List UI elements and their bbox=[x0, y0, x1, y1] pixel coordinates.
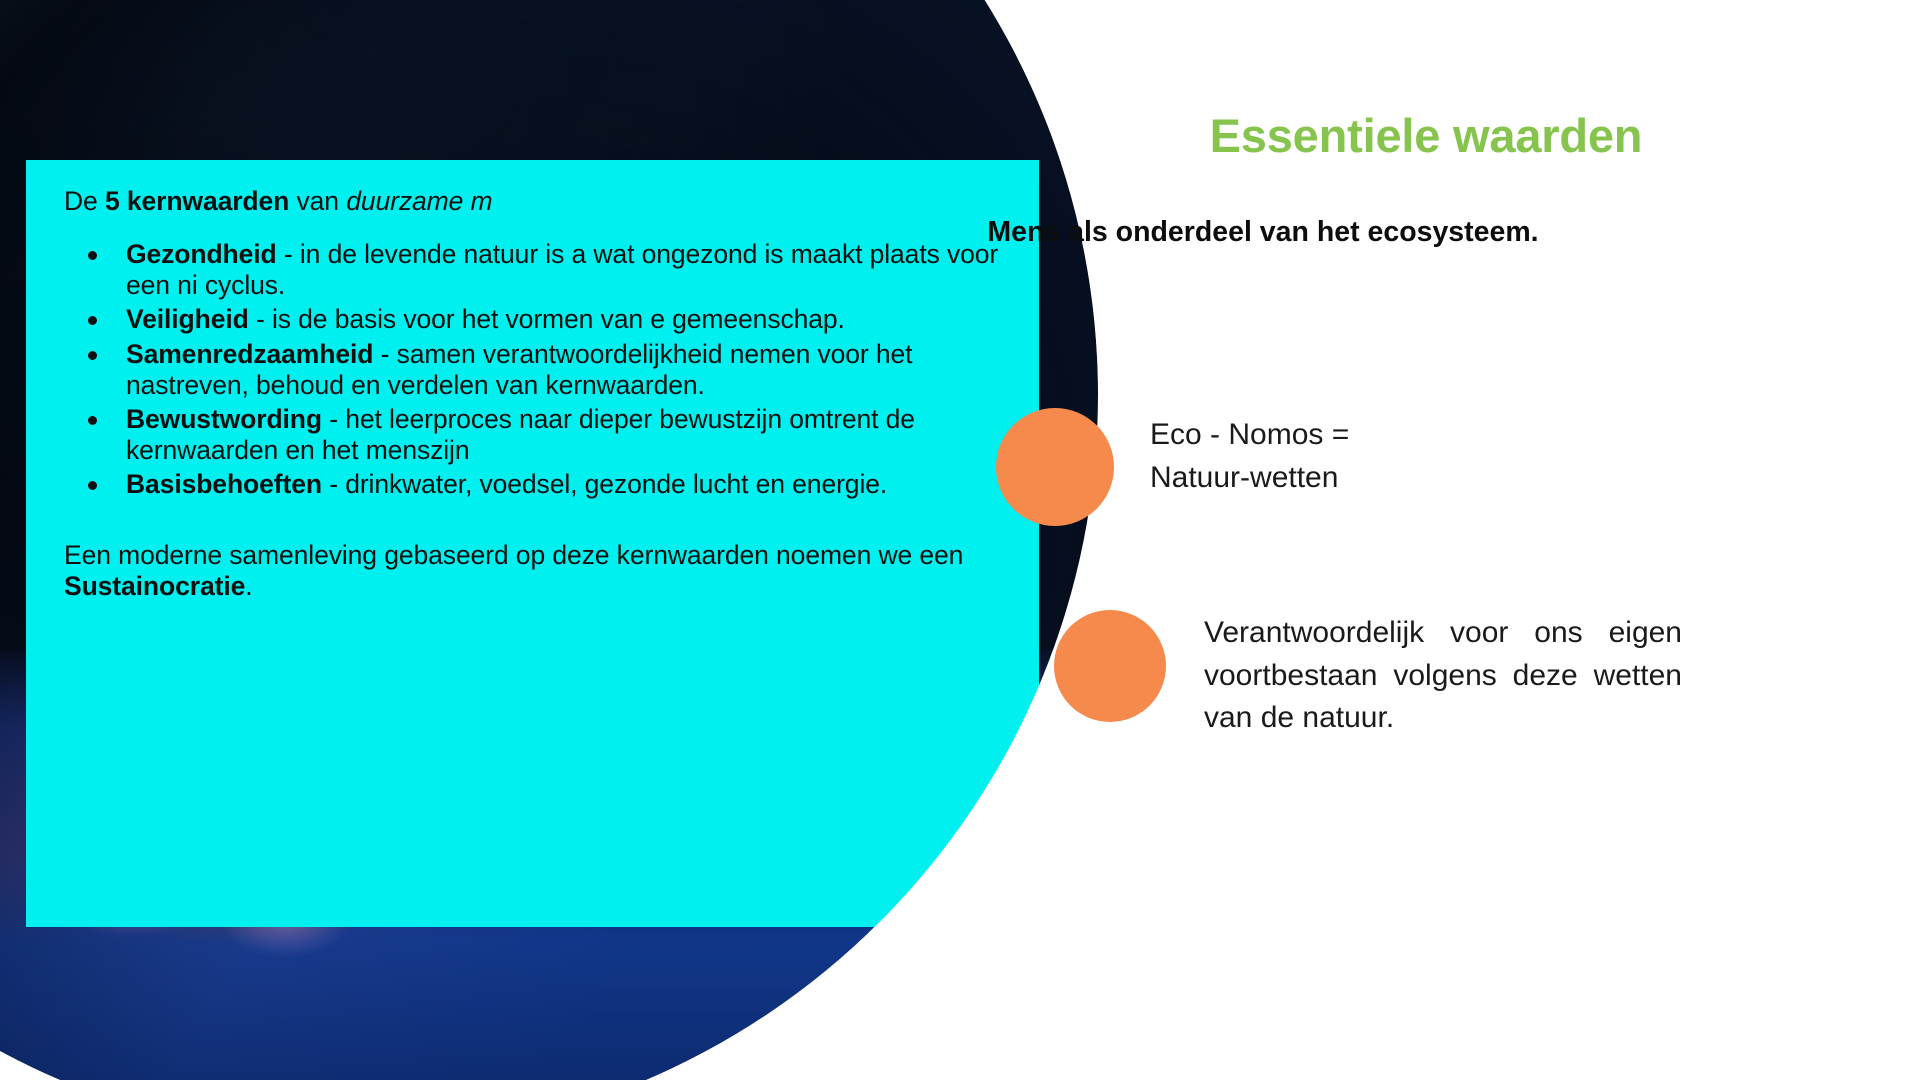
page-title: Essentiele waarden bbox=[1096, 108, 1756, 163]
bullet-dot-icon bbox=[88, 316, 97, 325]
card-intro-paragraph: De 5 kernwaarden van duurzame m bbox=[64, 186, 1005, 217]
card-intro-italic: duurzame m bbox=[346, 186, 492, 216]
bullet-text-line: Eco - Nomos = bbox=[1150, 414, 1349, 457]
orange-circle-icon bbox=[1054, 610, 1166, 722]
bullet-item-verantwoordelijk: Verantwoordelijk voor ons eigen voortbes… bbox=[1054, 610, 1704, 740]
slide-canvas: De 5 kernwaarden van duurzame m Gezondhe… bbox=[0, 0, 1920, 1080]
kernwaarde-term: Samenredzaamheid bbox=[126, 339, 373, 369]
list-item: Bewustwording - het leerproces naar diep… bbox=[64, 404, 1005, 466]
bullet-text-line: Natuur-wetten bbox=[1150, 457, 1349, 500]
page-subtitle: Mens als onderdeel van het ecosysteem. bbox=[770, 216, 1756, 249]
kernwaarde-separator: - bbox=[373, 339, 396, 369]
list-item: Basisbehoeften - drinkwater, voedsel, ge… bbox=[64, 469, 1005, 500]
bullet-dot-icon bbox=[88, 251, 97, 260]
orange-circle-icon bbox=[996, 408, 1114, 526]
card-closing-suffix: . bbox=[245, 571, 252, 601]
card-intro-prefix: De bbox=[64, 186, 105, 216]
kernwaarde-term: Gezondheid bbox=[126, 239, 277, 269]
list-item: Samenredzaamheid - samen verantwoordelij… bbox=[64, 339, 1005, 401]
list-item: Veiligheid - is de basis voor het vormen… bbox=[64, 304, 1005, 335]
kernwaarde-term: Basisbehoeften bbox=[126, 469, 322, 499]
kernwaarden-card: De 5 kernwaarden van duurzame m Gezondhe… bbox=[26, 160, 1039, 927]
bullet-item-eco-nomos: Eco - Nomos = Natuur-wetten bbox=[996, 408, 1416, 526]
kernwaarde-text: is de basis voor het vormen van e gemeen… bbox=[272, 304, 845, 334]
kernwaarde-separator: - bbox=[322, 469, 345, 499]
bullet-text: Eco - Nomos = Natuur-wetten bbox=[1150, 408, 1349, 499]
kernwaarde-term: Veiligheid bbox=[126, 304, 249, 334]
decorative-ring-bottom-icon bbox=[1452, 930, 1742, 1080]
bullet-dot-icon bbox=[88, 481, 97, 490]
right-green-bar bbox=[1752, 0, 1920, 1080]
card-closing-paragraph: Een moderne samenleving gebaseerd op dez… bbox=[64, 540, 1005, 602]
card-closing-bold: Sustainocratie bbox=[64, 571, 245, 601]
kernwaarde-text: drinkwater, voedsel, gezonde lucht en en… bbox=[345, 469, 887, 499]
kernwaarde-separator: - bbox=[322, 404, 345, 434]
kernwaarde-term: Bewustwording bbox=[126, 404, 322, 434]
bullet-dot-icon bbox=[88, 351, 97, 360]
kernwaarde-separator: - bbox=[249, 304, 272, 334]
kernwaarden-list: Gezondheid - in de levende natuur is a w… bbox=[64, 239, 1005, 500]
card-intro-bold: 5 kernwaarden bbox=[105, 186, 289, 216]
card-closing-prefix: Een moderne samenleving gebaseerd op dez… bbox=[64, 540, 963, 570]
bullet-text: Verantwoordelijk voor ons eigen voortbes… bbox=[1204, 610, 1682, 740]
kernwaarde-separator: - bbox=[277, 239, 300, 269]
bullet-dot-icon bbox=[88, 416, 97, 425]
card-intro-middle: van bbox=[289, 186, 346, 216]
